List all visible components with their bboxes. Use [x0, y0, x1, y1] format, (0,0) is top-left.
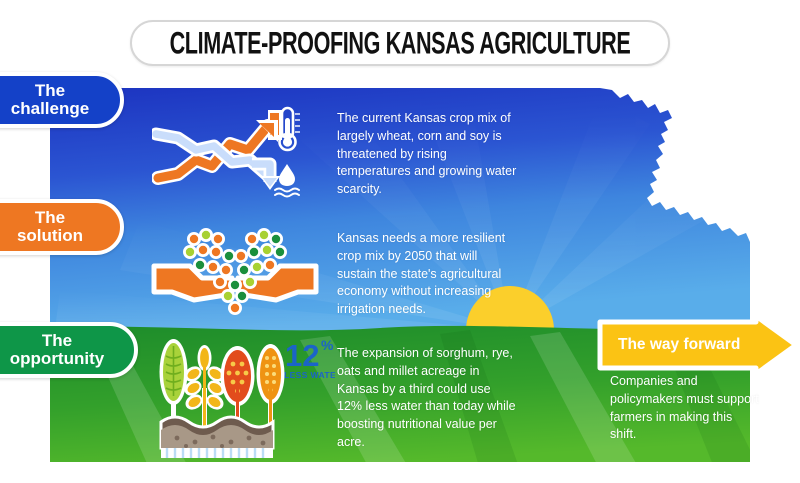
pill-opportunity-line1: The — [10, 332, 104, 350]
way-forward-label: The way forward — [618, 314, 740, 376]
pill-challenge-line1: The — [11, 82, 89, 100]
body-text-solution: Kansas needs a more resilient crop mix b… — [337, 230, 519, 319]
way-forward-arrow[interactable]: The way forward — [596, 314, 800, 376]
section-pill-challenge[interactable]: The challenge — [0, 72, 124, 128]
pill-solution-line1: The — [17, 209, 83, 227]
section-pill-solution[interactable]: The solution — [0, 199, 124, 255]
badge-caption: LESS WATER — [284, 370, 335, 380]
thermometer-icon — [280, 108, 301, 150]
badge-value: 12 — [285, 338, 319, 373]
pill-challenge-line2: challenge — [11, 100, 89, 118]
body-text-challenge: The current Kansas crop mix of largely w… — [337, 110, 519, 199]
seed-heart — [183, 228, 287, 315]
body-text-opportunity: The expansion of sorghum, rye, oats and … — [337, 345, 519, 452]
body-text-way-forward: Companies and policymakers must support … — [610, 373, 760, 444]
water-savings-badge: 12 % LESS WATER — [284, 337, 335, 380]
page-title: CLIMATE-PROOFING KANSAS AGRICULTURE — [130, 20, 670, 66]
hands-holding-seed-heart-icon — [150, 222, 320, 317]
badge-unit: % — [321, 337, 334, 353]
page-title-text: CLIMATE-PROOFING KANSAS AGRICULTURE — [170, 25, 631, 62]
grain-stalks-soil-water-icon: 12 % LESS WATER — [155, 330, 335, 458]
rising-temperature-falling-water-chart-icon — [152, 100, 317, 200]
water-drop-icon — [275, 164, 299, 197]
pill-opportunity-line2: opportunity — [10, 350, 104, 368]
section-pill-opportunity[interactable]: The opportunity — [0, 322, 138, 378]
pill-solution-line2: solution — [17, 227, 83, 245]
